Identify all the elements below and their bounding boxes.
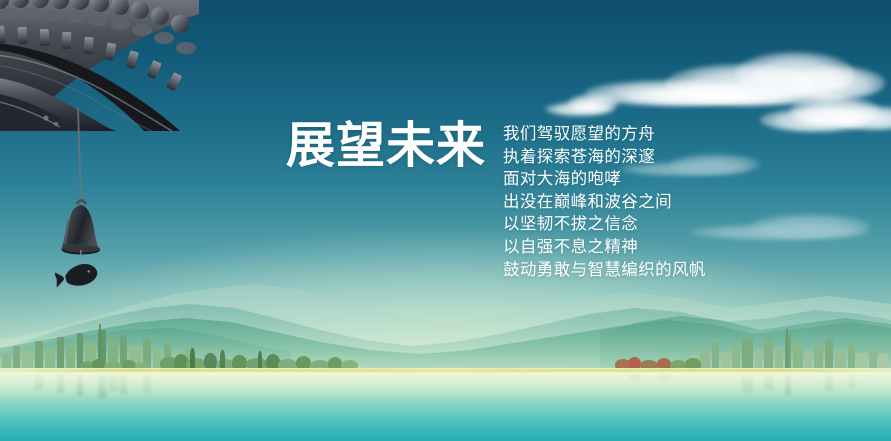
poem-line: 以坚韧不拔之信念 [503, 213, 763, 236]
poem-block: 我们驾驭愿望的方舟 执着探索苍海的深邃 面对大海的咆哮 出没在巅峰和波谷之间 以… [503, 123, 763, 281]
poem-line: 以自强不息之精神 [503, 236, 763, 259]
poem-line: 我们驾驭愿望的方舟 [503, 123, 763, 146]
banner-scene: 展望未来 我们驾驭愿望的方舟 执着探索苍海的深邃 面对大海的咆哮 出没在巅峰和波… [0, 0, 891, 441]
poem-line: 面对大海的咆哮 [503, 168, 763, 191]
poem-line: 鼓动勇敢与智慧编织的风帆 [503, 259, 763, 282]
tree-cluster-center [160, 350, 360, 370]
poem-line: 执着探索苍海的深邃 [503, 146, 763, 169]
city-reflection [0, 371, 891, 401]
city-skyline-right [690, 330, 891, 368]
wind-chime-icon [55, 108, 115, 293]
page-title: 展望未来 [286, 122, 486, 171]
poem-line: 出没在巅峰和波谷之间 [503, 191, 763, 214]
